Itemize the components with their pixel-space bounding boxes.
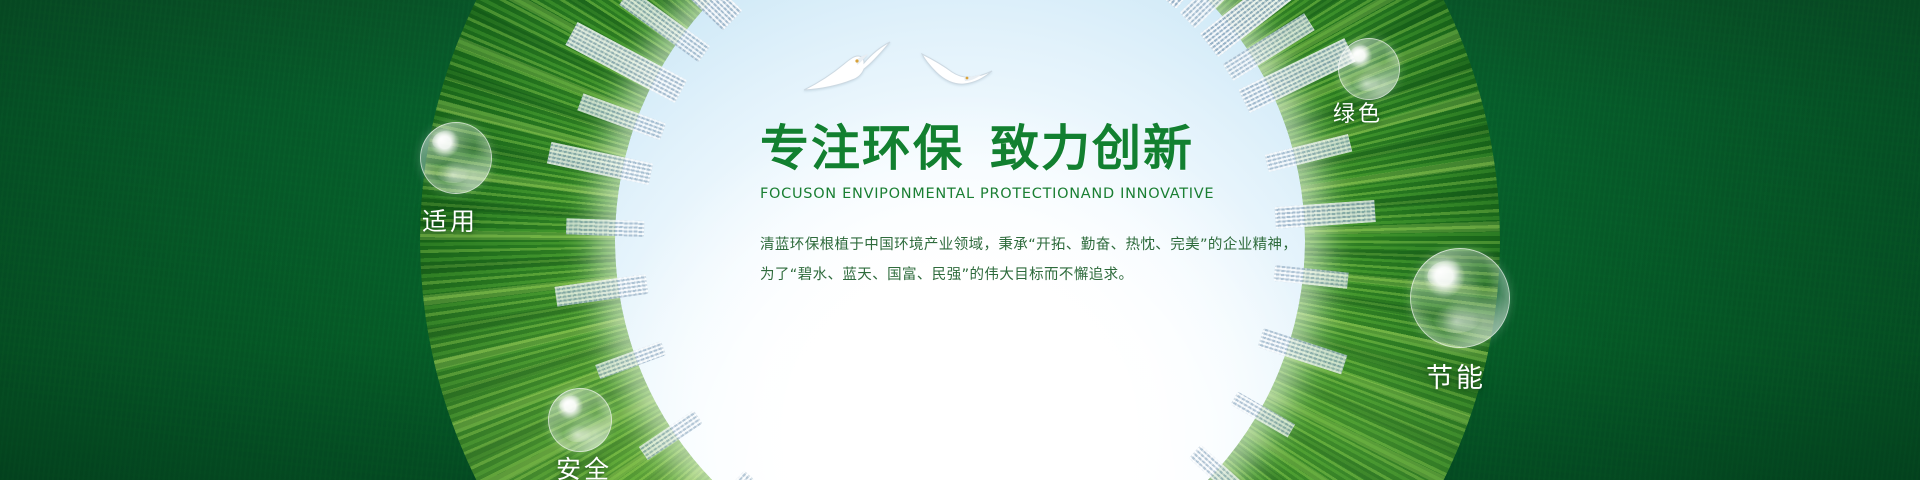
bubble-icon [1410,248,1510,348]
body-copy: 清蓝环保根植于中国环境产业领域，秉承“开拓、勤奋、热忱、完美”的企业精神， 为了… [760,230,1320,290]
bubble-icon [548,388,612,452]
seagull-left-icon [800,36,896,96]
feature-label: 节能 [1426,356,1486,395]
copy-block: 专注环保致力创新 FOCUSON ENVIPONMENTAL PROTECTIO… [760,124,1320,290]
bubble-icon [1338,38,1400,100]
body-line-1: 清蓝环保根植于中国环境产业领域，秉承“开拓、勤奋、热忱、完美”的企业精神， [760,230,1320,260]
feature-anquan: 安全 [520,388,690,480]
feature-label: 安全 [556,450,612,480]
page-title: 专注环保致力创新 [760,124,1320,173]
seagull-right-icon [920,44,994,92]
feature-lvse: 绿色 [1306,38,1466,158]
feature-label: 绿色 [1333,96,1383,128]
body-line-2: 为了“碧水、蓝天、国富、民强”的伟大目标而不懈追求。 [760,260,1320,290]
feature-label: 适用 [422,202,478,238]
headline-part1: 专注环保 [760,120,964,177]
headline-part2: 致力创新 [990,120,1194,177]
eco-hero-banner: 适用 安全 绿色 节能 专注环保致力创新 FOCUSON ENVIPONMENT… [0,0,1920,480]
feature-shiyong: 适用 [398,122,558,272]
bubble-icon [420,122,492,194]
subtitle: FOCUSON ENVIPONMENTAL PROTECTIONAND INNO… [760,186,1320,202]
feature-jieneng: 节能 [1398,248,1578,408]
